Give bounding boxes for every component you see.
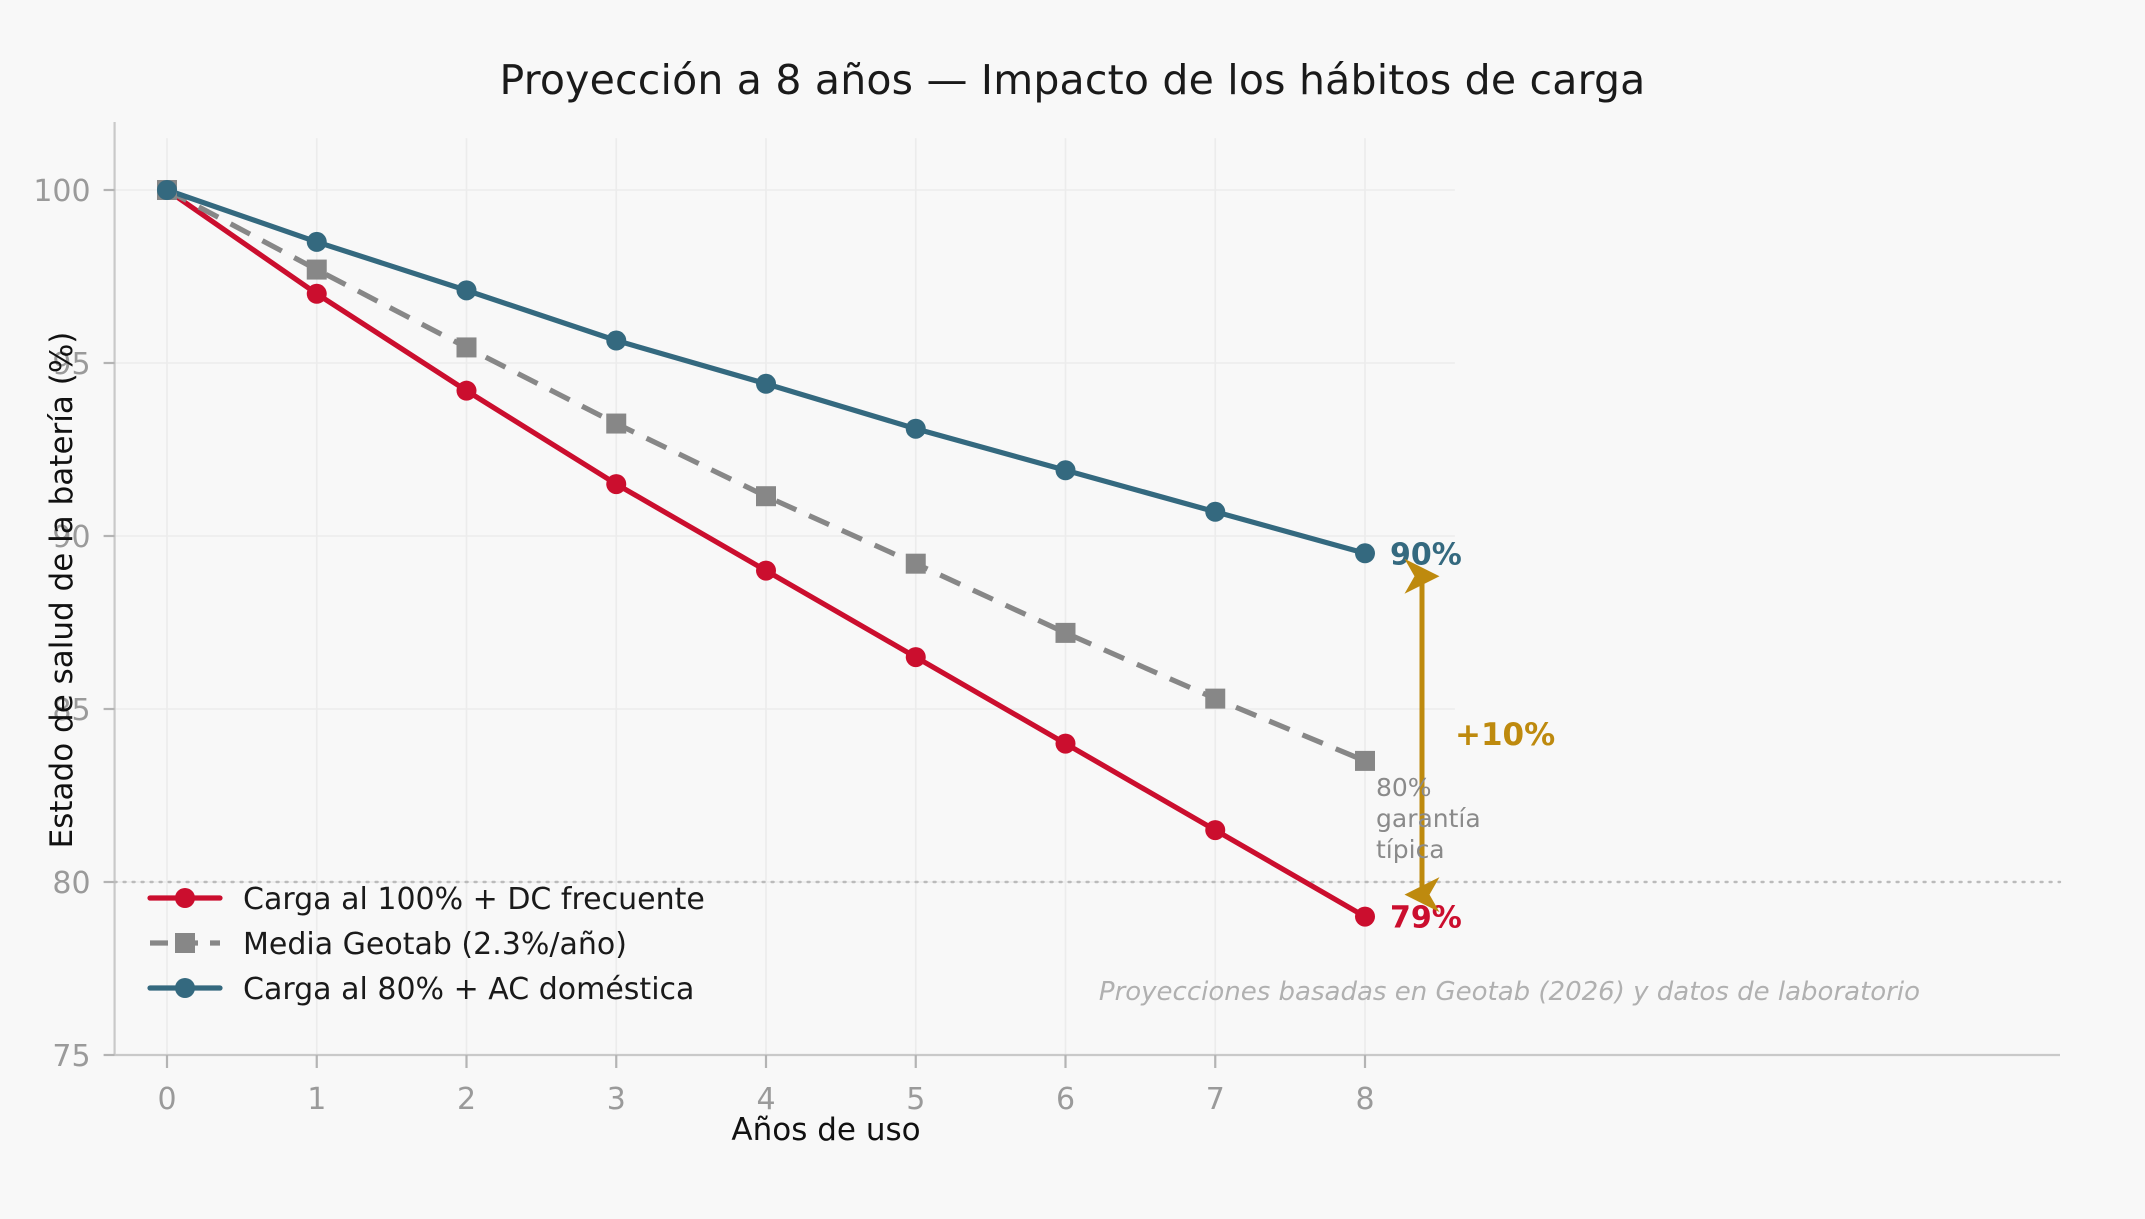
x-axis-title: Años de uso (731, 1112, 920, 1148)
data-point-marker (457, 280, 477, 300)
data-point-marker (1205, 689, 1225, 709)
y-tick-label: 100 (33, 174, 90, 209)
plot-area: 7580859095100 012345678 90%79%+10%80%gar… (0, 0, 2145, 1219)
data-point-marker (606, 414, 626, 434)
end-label-top: 90% (1390, 537, 1462, 572)
annotations: 90%79%+10%80%garantíatípica (1376, 537, 1555, 935)
y-axis-title: Estado de salud de la batería (%) (44, 332, 80, 849)
data-point-marker (1205, 820, 1225, 840)
data-point-marker (1056, 623, 1076, 643)
legend: Carga al 100% + DC frecuenteMedia Geotab… (150, 882, 705, 1007)
data-point-marker (756, 374, 776, 394)
data-point-marker (1056, 734, 1076, 754)
x-tick-label: 2 (457, 1082, 476, 1117)
data-point-marker (307, 284, 327, 304)
data-point-marker (906, 647, 926, 667)
data-point-marker (906, 554, 926, 574)
data-point-marker (606, 331, 626, 351)
x-tick-label: 3 (607, 1082, 626, 1117)
data-point-marker (906, 419, 926, 439)
legend-swatch-marker (175, 933, 195, 953)
data-point-marker (1205, 502, 1225, 522)
data-point-marker (1056, 460, 1076, 480)
x-tick-label: 1 (307, 1082, 326, 1117)
data-point-marker (307, 232, 327, 252)
legend-item-label-1[interactable]: Media Geotab (2.3%/año) (243, 927, 627, 962)
x-tick-label: 7 (1206, 1082, 1225, 1117)
data-point-marker (157, 180, 177, 200)
data-point-marker (606, 474, 626, 494)
data-point-marker (457, 337, 477, 357)
end-label-bottom: 79% (1390, 901, 1462, 936)
x-tick-label: 6 (1056, 1082, 1075, 1117)
data-point-marker (1355, 907, 1375, 927)
x-tick-label: 0 (157, 1082, 176, 1117)
legend-swatch-marker (175, 888, 195, 908)
y-tick-label: 80 (52, 866, 90, 901)
x-tick-label: 8 (1355, 1082, 1374, 1117)
warranty-label: 80%garantíatípica (1376, 773, 1481, 864)
data-point-marker (756, 561, 776, 581)
y-tick-label: 75 (52, 1039, 90, 1074)
delta-label: +10% (1455, 717, 1555, 753)
legend-item-label-2[interactable]: Carga al 80% + AC doméstica (243, 972, 694, 1007)
legend-swatch-marker (175, 978, 195, 998)
data-point-marker (1355, 543, 1375, 563)
legend-item-label-0[interactable]: Carga al 100% + DC frecuente (243, 882, 705, 917)
data-point-marker (457, 381, 477, 401)
chart-figure: Proyección a 8 años — Impacto de los háb… (0, 0, 2145, 1219)
footnote: Proyecciones basadas en Geotab (2026) y … (1099, 977, 1920, 1007)
data-point-marker (756, 486, 776, 506)
data-point-marker (1355, 751, 1375, 771)
data-point-marker (307, 260, 327, 280)
